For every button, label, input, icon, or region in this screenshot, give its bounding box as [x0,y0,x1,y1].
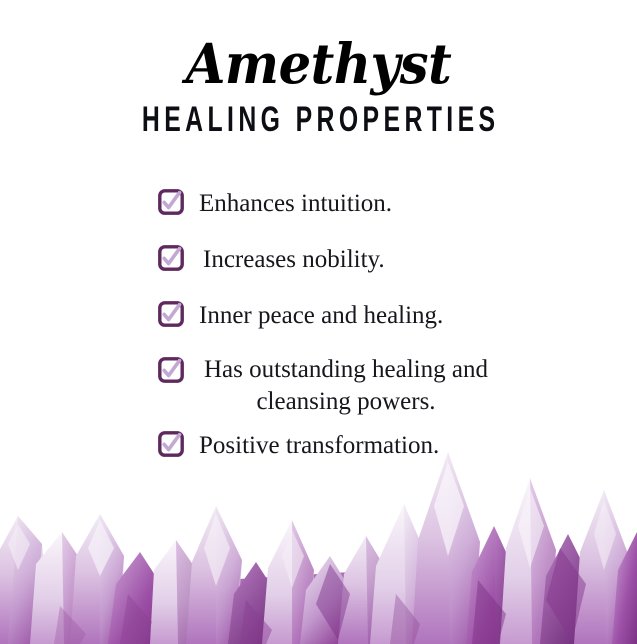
checked-checkbox-icon [158,357,184,383]
page-title: Amethyst [22,0,614,91]
poster-header: Amethyst HEALING PROPERTIES [0,0,637,134]
list-item: Increases nobility. [0,236,637,292]
checked-checkbox-icon [158,301,184,327]
list-item: Has outstanding healing and cleansing po… [0,348,637,422]
list-item: Enhances intuition. [0,180,637,236]
page-subtitle: HEALING PROPERTIES [64,88,574,137]
list-item: Inner peace and healing. [0,292,637,348]
list-item-label: Enhances intuition. [158,180,637,216]
list-item-label: Has outstanding healing and cleansing po… [158,348,496,418]
healing-properties-list: Enhances intuition. Increases nobility. … [0,180,637,478]
checked-checkbox-icon [158,189,184,215]
list-item-label: Increases nobility. [158,236,637,272]
checked-checkbox-icon [158,245,184,271]
checked-checkbox-icon [158,431,184,457]
list-item-label: Inner peace and healing. [158,292,637,328]
amethyst-healing-properties-poster: Amethyst HEALING PROPERTIES Enhances int… [0,0,637,644]
list-item: Positive transformation. [0,422,637,478]
list-item-label: Positive transformation. [158,422,637,458]
